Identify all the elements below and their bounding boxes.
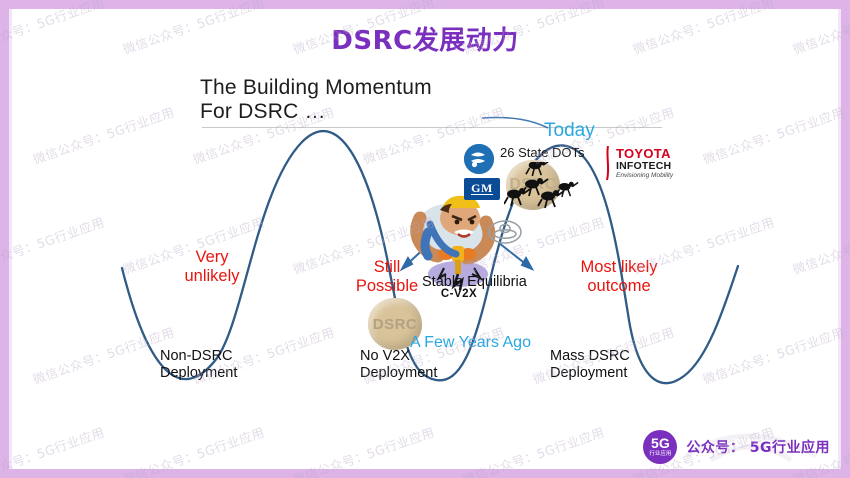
frame-bottom <box>0 469 850 478</box>
slide-root: DSRC发展动力 The Building Momentum For DSRC … <box>0 0 850 478</box>
page-title-text: DSRC发展动力 <box>331 26 518 56</box>
very-unlikely-label: Very unlikely <box>162 248 262 287</box>
mass-dsrc-line-1: Mass DSRC <box>550 348 670 365</box>
frame-top <box>0 0 850 9</box>
very-unlikely-line-1: Very <box>162 248 262 267</box>
brand-logo-icon: 5G 行业应用 <box>643 430 677 464</box>
toyota-infotech-line-3: Envisioning Mobility <box>616 172 673 179</box>
gm-logo-text: GM <box>471 183 493 195</box>
most-likely-label: Most likely outcome <box>560 258 678 297</box>
most-likely-line-2: outcome <box>560 277 678 296</box>
toyota-infotech-line-2: INFOTECH <box>616 160 671 172</box>
still-possible-line-1: Still <box>342 258 432 277</box>
no-v2x-line-2: Deployment <box>360 365 470 382</box>
very-unlikely-line-2: unlikely <box>162 267 262 286</box>
today-label: Today <box>544 120 595 142</box>
brand-text: 公众号： 5G行业应用 <box>686 437 830 457</box>
brand-circle-main: 5G <box>651 436 670 450</box>
today-connector <box>482 117 548 128</box>
non-dsrc-line-2: Deployment <box>160 365 270 382</box>
brand-block: 5G 行业应用 公众号： 5G行业应用 <box>643 430 830 464</box>
stable-equilibria-label: Stable Equilibria <box>422 274 527 291</box>
valley-label-non-dsrc: Non-DSRC Deployment <box>160 348 270 383</box>
frame-right <box>841 0 850 478</box>
mass-dsrc-line-2: Deployment <box>550 365 670 382</box>
non-dsrc-line-1: Non-DSRC <box>160 348 270 365</box>
chart-card: The Building Momentum For DSRC … DSRC DS… <box>12 58 838 422</box>
usdot-logo-icon <box>464 144 494 174</box>
toyota-infotech-line-1: TOYOTA <box>616 146 671 161</box>
ants-pushing-icon <box>504 162 596 214</box>
brand-circle-sub: 行业应用 <box>649 452 671 458</box>
headline-line-1: The Building Momentum <box>200 76 432 100</box>
boulder-bottom-label: DSRC <box>373 316 418 333</box>
no-v2x-line-1: No V2X <box>360 348 470 365</box>
toyota-logo-icon <box>488 220 522 244</box>
frame-left <box>0 0 9 478</box>
chart-headline: The Building Momentum For DSRC … <box>200 76 432 123</box>
still-possible-line-2: Possible <box>342 277 432 296</box>
headline-line-2: For DSRC … <box>200 100 432 124</box>
frame-inner-right <box>838 9 841 469</box>
valley-label-mass-dsrc: Mass DSRC Deployment <box>550 348 670 383</box>
toyota-infotech-logo: TOYOTA INFOTECH Envisioning Mobility <box>604 144 686 184</box>
bottom-bar: 5G 行业应用 公众号： 5G行业应用 <box>12 424 838 466</box>
page-title: DSRC发展动力 <box>0 20 850 57</box>
toyota-infotech-bar-icon <box>606 146 610 180</box>
state-dots-label: 26 State DOTs <box>500 145 585 160</box>
gm-logo-icon: GM <box>464 178 500 200</box>
valley-label-no-v2x: No V2X Deployment <box>360 348 470 383</box>
still-possible-label: Still Possible <box>342 258 432 297</box>
most-likely-line-1: Most likely <box>560 258 678 277</box>
